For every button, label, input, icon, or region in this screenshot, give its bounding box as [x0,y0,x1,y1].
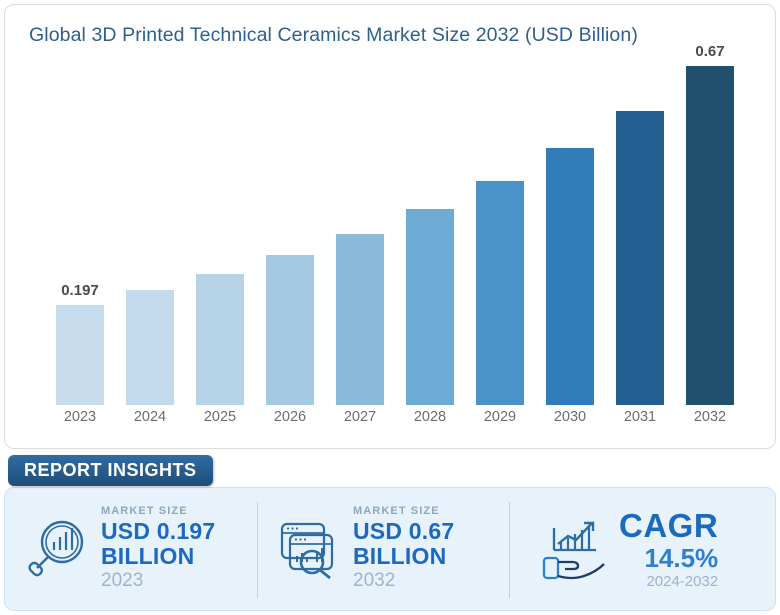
x-axis-label-2032: 2032 [675,409,745,425]
bar-2027[interactable] [336,234,384,405]
bar-group-2032: 0.67 [675,25,745,405]
cagr-text: CAGR 14.5% 2024-2032 [613,509,718,590]
insight-card-text: MARKET SIZE USD 0.67 BILLION 2032 [347,505,454,593]
x-axis-label-2028: 2028 [395,409,465,425]
market-size-infographic: Global 3D Printed Technical Ceramics Mar… [0,0,780,615]
bar-group-2024 [115,25,185,405]
bar-2026[interactable] [266,255,314,405]
bar-2032[interactable] [686,66,734,405]
insight-card-market-size-2032: MARKET SIZE USD 0.67 BILLION 2032 [257,488,509,610]
bar-2025[interactable] [196,274,244,405]
bar-value-label-2023: 0.197 [45,282,115,299]
bar-group-2027 [325,25,395,405]
x-axis-label-2026: 2026 [255,409,325,425]
bar-2028[interactable] [406,209,454,405]
market-size-value-line1: USD 0.197 [101,519,215,544]
x-axis-label-2029: 2029 [465,409,535,425]
bar-group-2026 [255,25,325,405]
market-size-caption: MARKET SIZE [101,505,215,517]
bar-2030[interactable] [546,148,594,405]
x-axis-label-2025: 2025 [185,409,255,425]
market-size-value-line1: USD 0.67 [353,519,454,544]
bar-2031[interactable] [616,111,664,405]
cagr-range: 2024-2032 [619,573,718,590]
cagr-title: CAGR [619,509,718,543]
bar-value-label-2032: 0.67 [675,43,745,60]
report-insights-tab[interactable]: REPORT INSIGHTS [8,455,213,486]
windows-analytics-magnifier-icon [271,511,347,587]
bar-group-2025 [185,25,255,405]
bar-series: 0.19720232024202520262027202820292030203… [45,25,745,405]
x-axis-label-2024: 2024 [115,409,185,425]
bar-group-2023: 0.197 [45,25,115,405]
market-size-year: 2023 [101,569,215,593]
bar-group-2028 [395,25,465,405]
hand-growth-chart-icon [537,511,613,587]
x-axis-label-2030: 2030 [535,409,605,425]
x-axis-label-2023: 2023 [45,409,115,425]
bar-chart-plot: 0.19720232024202520262027202820292030203… [45,25,745,425]
cagr-value: 14.5% [619,543,718,573]
bar-2024[interactable] [126,290,174,405]
market-size-year: 2032 [353,569,454,593]
bar-2023[interactable] [56,305,104,405]
insight-card-cagr: CAGR 14.5% 2024-2032 [509,488,775,610]
insight-card-text: MARKET SIZE USD 0.197 BILLION 2023 [95,505,215,593]
x-axis-label-2031: 2031 [605,409,675,425]
report-insights-panel: MARKET SIZE USD 0.197 BILLION 2023 [4,487,776,611]
x-axis-label-2027: 2027 [325,409,395,425]
magnifier-bar-chart-icon [19,511,95,587]
market-size-caption: MARKET SIZE [353,505,454,517]
chart-card: Global 3D Printed Technical Ceramics Mar… [4,4,776,449]
market-size-value-line2: BILLION [353,544,454,569]
market-size-value-line2: BILLION [101,544,215,569]
insight-card-market-size-2023: MARKET SIZE USD 0.197 BILLION 2023 [5,488,257,610]
bar-group-2030 [535,25,605,405]
bar-2029[interactable] [476,181,524,405]
bar-group-2031 [605,25,675,405]
bar-group-2029 [465,25,535,405]
report-insights-label: REPORT INSIGHTS [24,460,197,481]
